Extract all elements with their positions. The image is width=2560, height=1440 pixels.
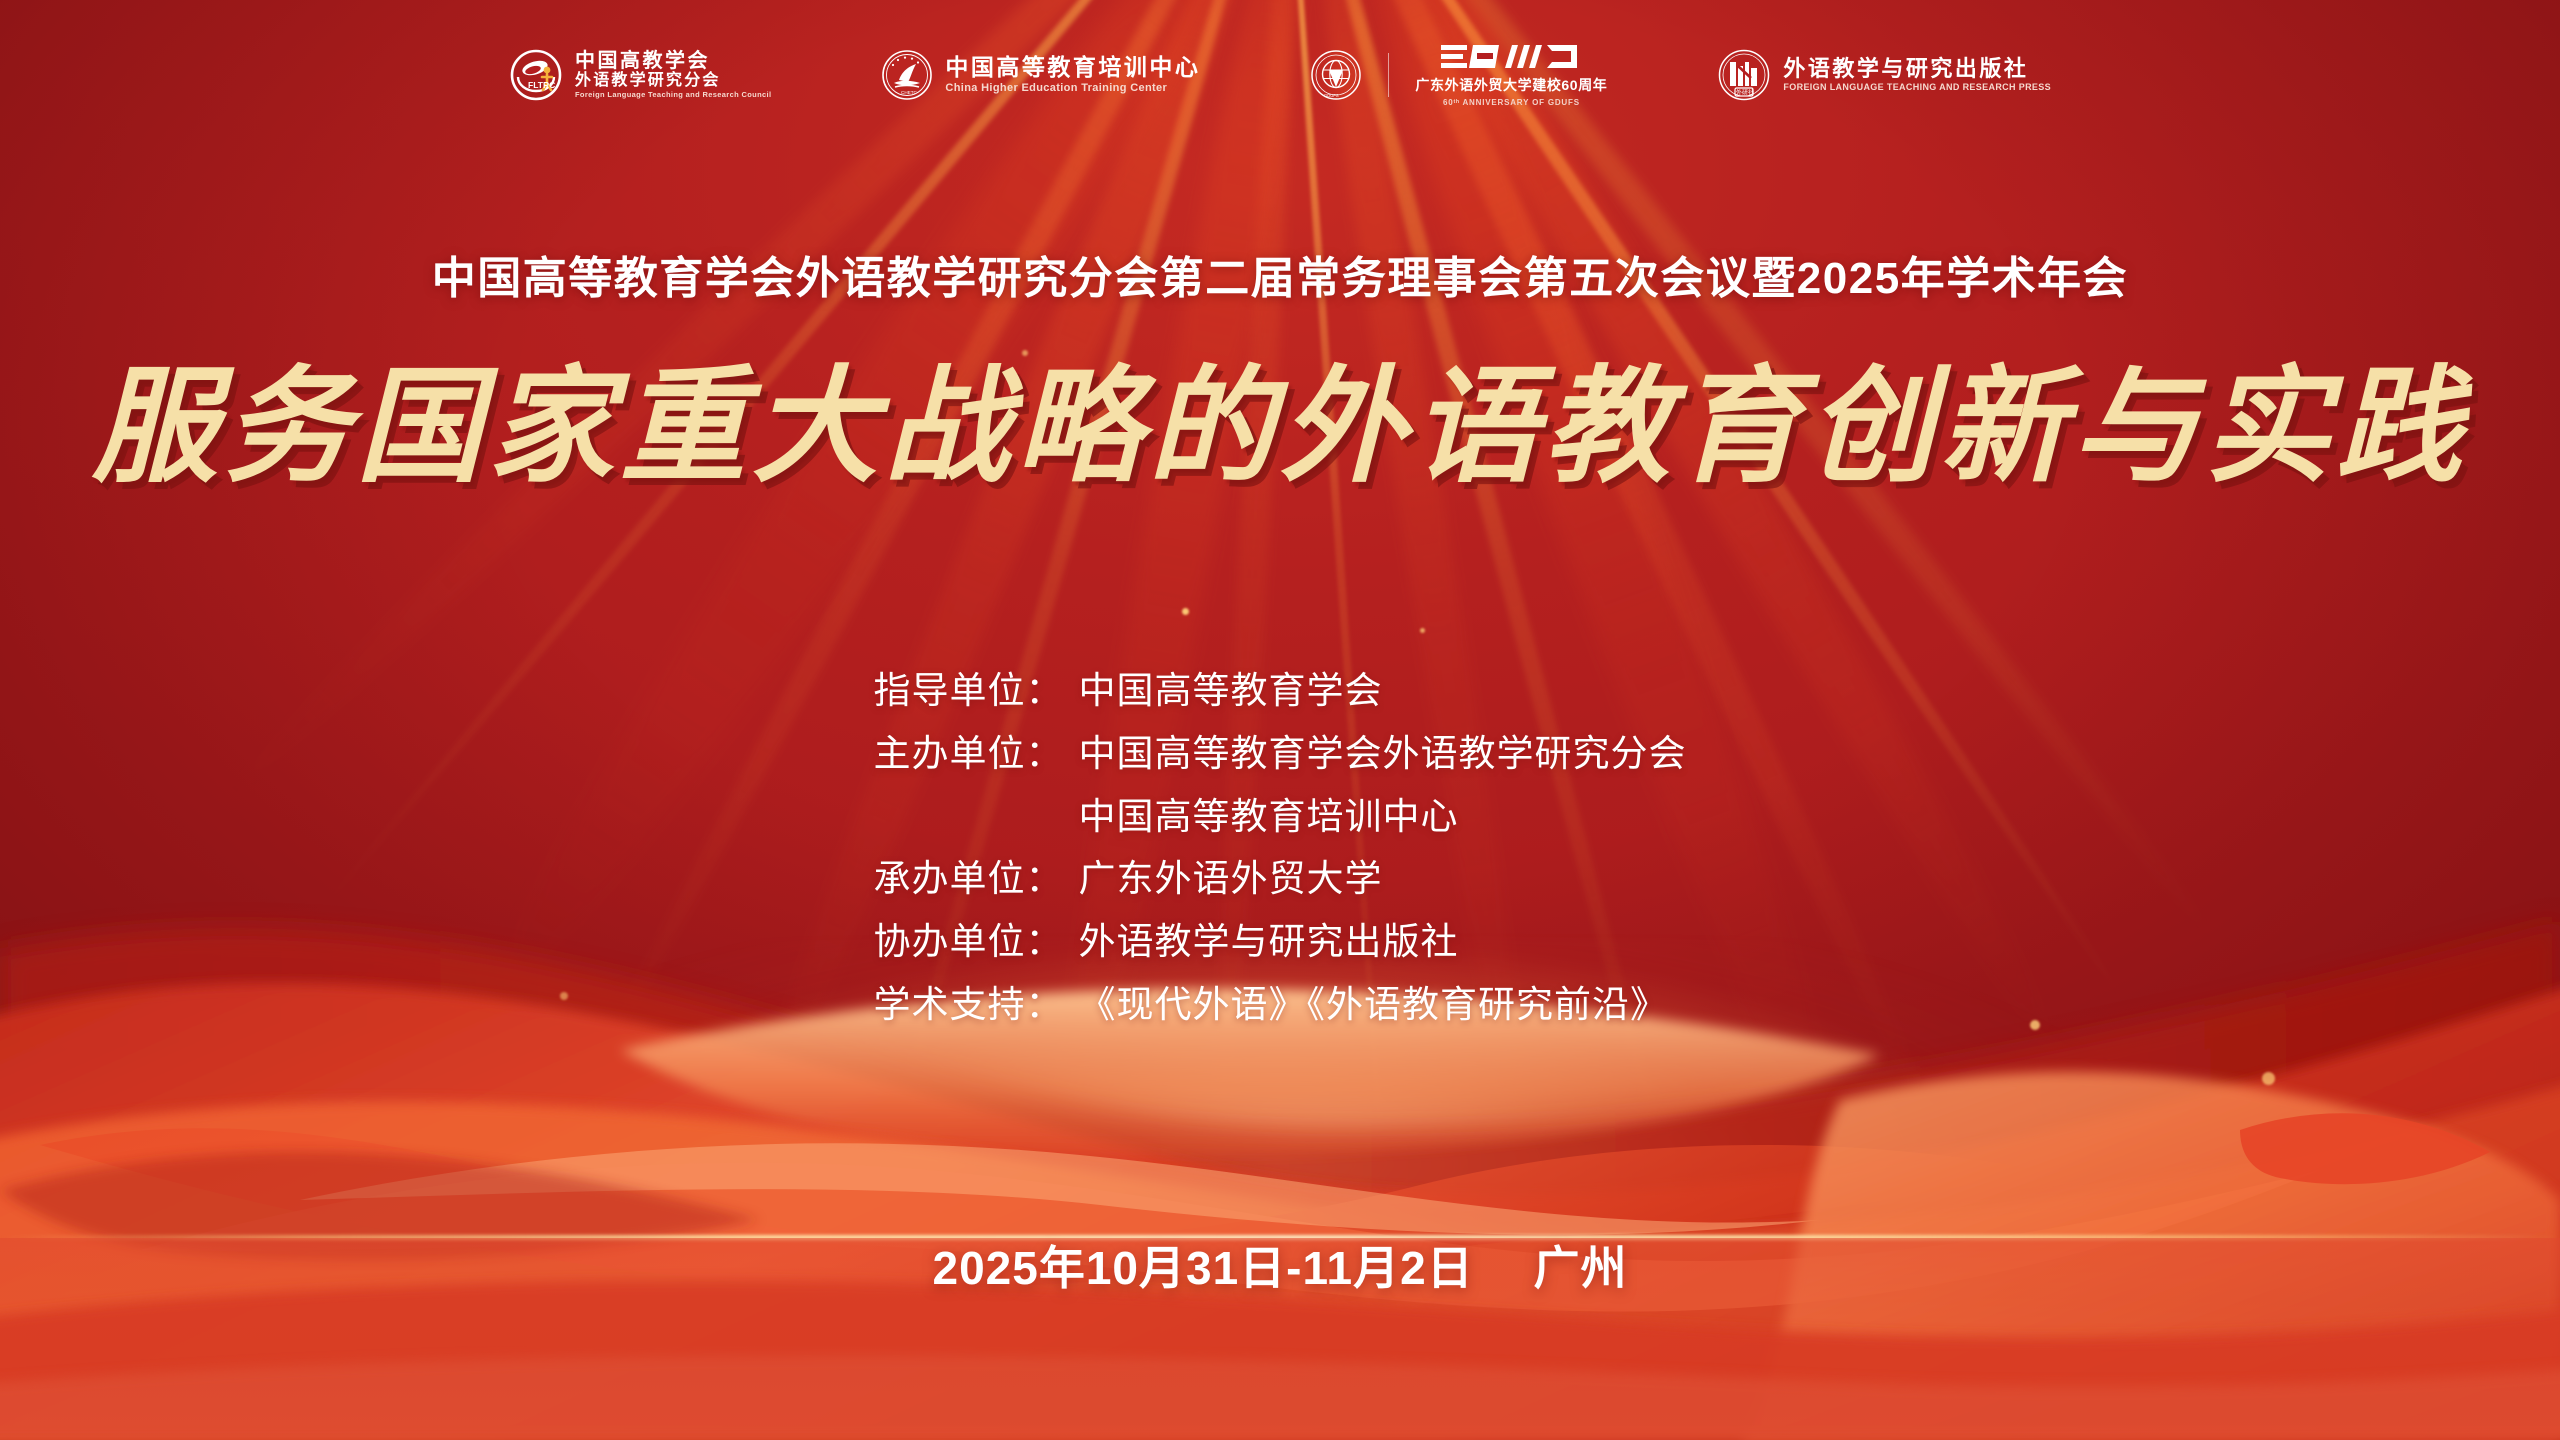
banner-content: FLTRC 中国高教学会 外语教学研究分会 Foreign Language T… <box>0 0 2560 1440</box>
credit-row: 指导单位： 中国高等教育学会 <box>874 664 1687 719</box>
credit-value: 广东外语外贸大学 <box>1079 852 1687 907</box>
event-date: 2025年10月31日-11月2日 <box>933 1242 1474 1294</box>
logo-gdufs: GDUFS <box>1310 42 1607 107</box>
organizer-credits: 指导单位： 中国高等教育学会 主办单位： 中国高等教育学会外语教学研究分会 主办… <box>874 664 1687 1033</box>
credit-label: 承办单位： <box>874 852 1079 907</box>
conference-banner: FLTRC 中国高教学会 外语教学研究分会 Foreign Language T… <box>0 0 2560 1440</box>
conference-subtitle: 中国高等教育学会外语教学研究分会第二届常务理事会第五次会议暨2025年学术年会 <box>0 242 2560 306</box>
credit-row: 协办单位： 外语教学与研究出版社 <box>874 915 1687 970</box>
conference-main-title: 服务国家重大战略的外语教育创新与实践 <box>0 354 2560 499</box>
logo-fltrc: FLTRC 中国高教学会 外语教学研究分会 Foreign Language T… <box>509 48 771 102</box>
logo-gdufs-text: 广东外语外贸大学建校60周年 60ᵗʰ ANNIVERSARY OF GDUFS <box>1415 42 1607 107</box>
logo-gdufs-line1: 广东外语外贸大学建校60周年 <box>1415 75 1607 95</box>
logo-chetc-english: China Higher Education Training Center <box>945 82 1200 94</box>
credit-label: 指导单位： <box>874 664 1079 719</box>
credit-value: 中国高等教育培训中心 <box>1079 790 1687 845</box>
event-datetime-location: 2025年10月31日-11月2日 广州 <box>0 1232 2560 1298</box>
chetc-emblem-icon: CHETC <box>881 49 933 101</box>
logo-fltrp: 外研社 外语教学与研究出版社 FOREIGN LANGUAGE TEACHING… <box>1717 48 2051 102</box>
credit-row: 学术支持： 《现代外语》《外语教育研究前沿》 <box>874 978 1687 1033</box>
event-city: 广州 <box>1533 1242 1627 1294</box>
gdufs-wordmark-icon <box>1441 42 1581 72</box>
logo-chetc-line1: 中国高等教育培训中心 <box>945 55 1200 81</box>
logo-chetc-text: 中国高等教育培训中心 China Higher Education Traini… <box>945 55 1200 94</box>
logo-chetc: CHETC 中国高等教育培训中心 China Higher Education … <box>881 49 1200 101</box>
credit-value: 中国高等教育学会外语教学研究分会 <box>1079 727 1687 782</box>
logo-fltrc-line2: 外语教学研究分会 <box>575 72 771 90</box>
fltrc-emblem-icon: FLTRC <box>509 48 563 102</box>
logo-fltrp-text: 外语教学与研究出版社 FOREIGN LANGUAGE TEACHING AND… <box>1783 57 2051 93</box>
logo-divider <box>1388 53 1389 97</box>
sponsor-logo-strip: FLTRC 中国高教学会 外语教学研究分会 Foreign Language T… <box>0 42 2560 107</box>
credit-label: 学术支持： <box>874 978 1079 1033</box>
svg-text:FLTRC: FLTRC <box>528 80 555 90</box>
logo-fltrp-line1: 外语教学与研究出版社 <box>1783 57 2051 82</box>
logo-fltrc-text: 中国高教学会 外语教学研究分会 Foreign Language Teachin… <box>575 50 771 100</box>
logo-fltrc-english: Foreign Language Teaching and Research C… <box>575 91 771 99</box>
credit-label: 协办单位： <box>874 915 1079 970</box>
credit-value: 中国高等教育学会 <box>1079 664 1687 719</box>
logo-gdufs-english: 60ᵗʰ ANNIVERSARY OF GDUFS <box>1443 98 1580 107</box>
svg-text:CHETC: CHETC <box>901 90 918 95</box>
credit-label: 主办单位： <box>874 727 1079 782</box>
logo-fltrp-english: FOREIGN LANGUAGE TEACHING AND RESEARCH P… <box>1783 82 2051 92</box>
credit-row: 主办单位： 中国高等教育培训中心 <box>874 790 1687 845</box>
credit-row: 主办单位： 中国高等教育学会外语教学研究分会 <box>874 727 1687 782</box>
svg-text:GDUFS: GDUFS <box>1324 93 1339 98</box>
fltrp-emblem-icon: 外研社 <box>1717 48 1771 102</box>
credit-value: 《现代外语》《外语教育研究前沿》 <box>1079 978 1687 1033</box>
gdufs-emblem-icon: GDUFS <box>1310 49 1362 101</box>
svg-text:外研社: 外研社 <box>1736 88 1754 96</box>
logo-fltrc-line1: 中国高教学会 <box>575 50 771 72</box>
credit-value: 外语教学与研究出版社 <box>1079 915 1687 970</box>
credit-row: 承办单位： 广东外语外贸大学 <box>874 852 1687 907</box>
